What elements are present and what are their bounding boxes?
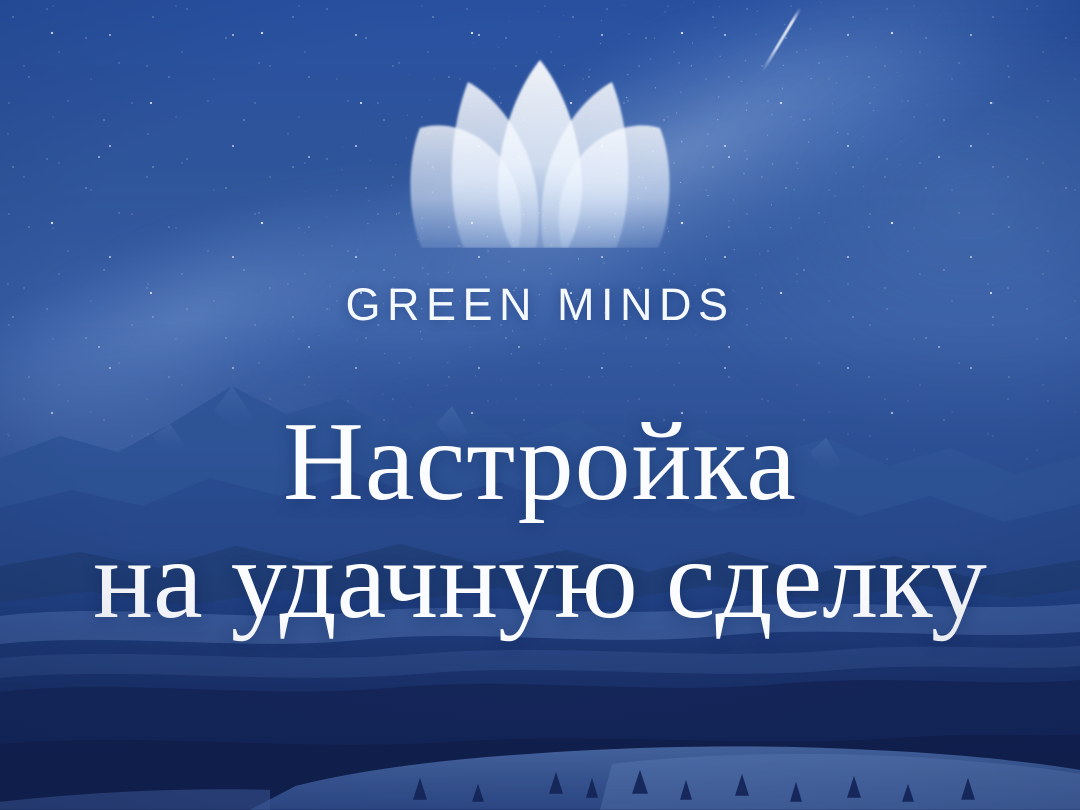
headline-block: Настройка на удачную сделку: [0, 405, 1080, 637]
poster-canvas: GREEN MINDS Настройка на удачную сделку: [0, 0, 1080, 810]
headline-line-2: на удачную сделку: [0, 523, 1080, 637]
lotus-flower-icon: [406, 52, 674, 248]
headline-line-1: Настройка: [0, 405, 1080, 519]
brand-lockup: GREEN MINDS: [0, 52, 1080, 327]
brand-name: GREEN MINDS: [345, 282, 734, 327]
